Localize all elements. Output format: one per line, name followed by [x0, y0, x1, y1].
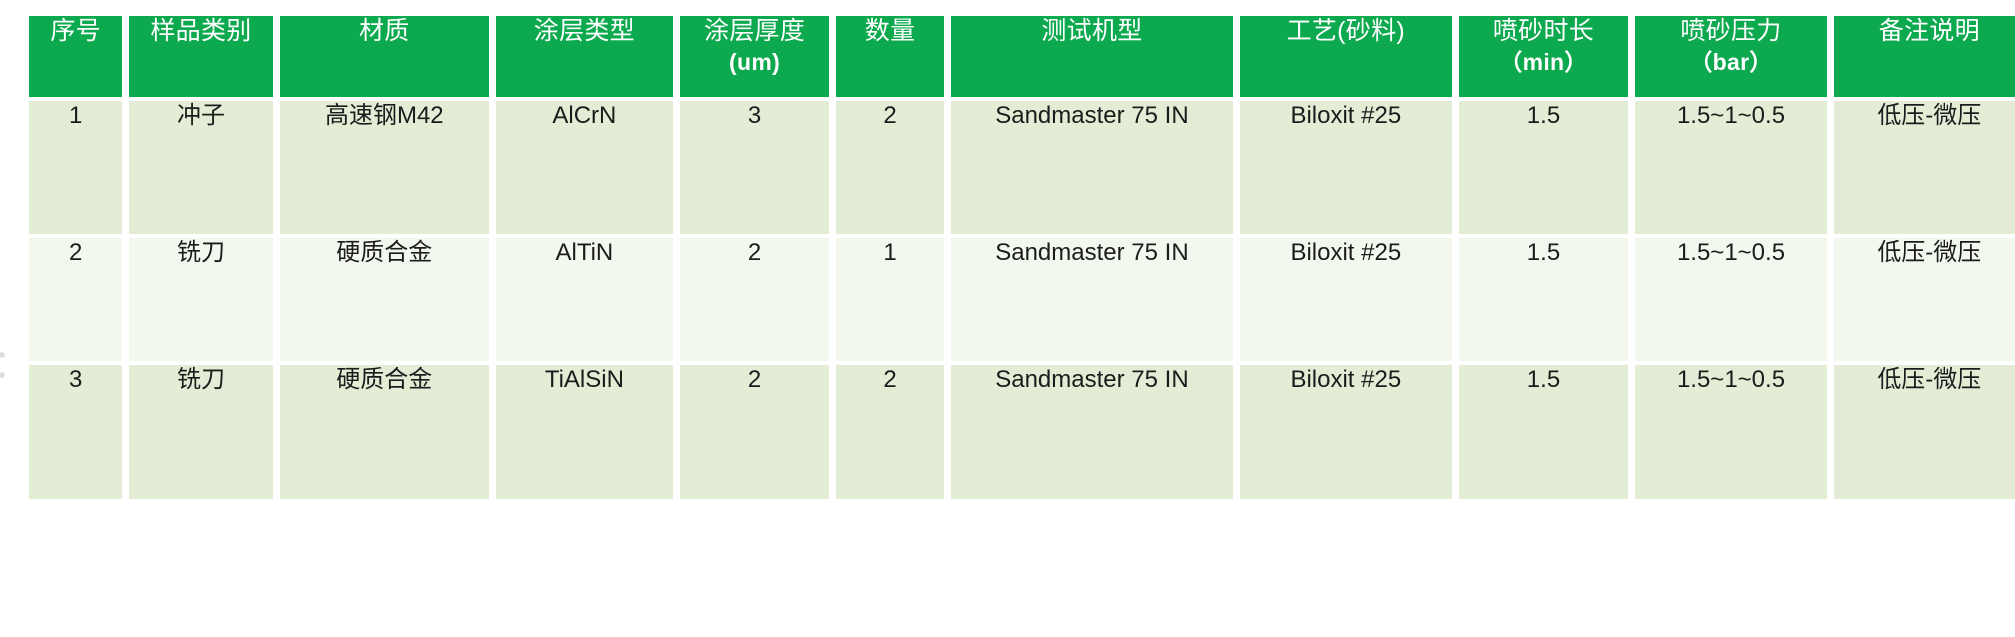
column-header-thickness[interactable]: 涂层厚度 (um) [680, 16, 829, 97]
cell-blast-time[interactable]: 1.5 [1459, 365, 1629, 499]
sample-parameters-table: 序号 样品类别 材质 涂层类型 涂层厚度 (um) [22, 12, 2015, 503]
table-body: 1 冲子 高速钢M42 AlCrN 3 2 Sandmaster 75 IN B… [29, 101, 2015, 499]
cell-coat[interactable]: TiAlSiN [496, 365, 673, 499]
cell-coat[interactable]: AlTiN [496, 238, 673, 361]
cell-process[interactable]: Biloxit #25 [1240, 365, 1452, 499]
column-header-qty-label: 数量 [865, 17, 916, 45]
column-header-process-label: 工艺(砂料) [1287, 17, 1405, 45]
cell-qty[interactable]: 2 [836, 101, 944, 234]
table-row[interactable]: 2 铣刀 硬质合金 AlTiN 2 1 Sandmaster 75 IN Bil… [29, 238, 2015, 361]
column-header-process[interactable]: 工艺(砂料) [1240, 16, 1452, 97]
cell-remark[interactable]: 低压-微压 [1834, 101, 2015, 234]
column-header-machine[interactable]: 测试机型 [951, 16, 1233, 97]
table-header: 序号 样品类别 材质 涂层类型 涂层厚度 (um) [29, 16, 2015, 97]
column-header-coat-label: 涂层类型 [534, 17, 635, 45]
cell-cat[interactable]: 冲子 [129, 101, 272, 234]
cell-mat[interactable]: 硬质合金 [280, 365, 489, 499]
cell-machine[interactable]: Sandmaster 75 IN [951, 101, 1233, 234]
column-header-cat-label: 样品类别 [150, 17, 251, 45]
column-header-machine-label: 测试机型 [1041, 17, 1142, 45]
column-header-blast-time[interactable]: 喷砂时长 （min） [1459, 16, 1629, 97]
cell-remark[interactable]: 低压-微压 [1834, 238, 2015, 361]
cell-machine[interactable]: Sandmaster 75 IN [951, 365, 1233, 499]
table-row[interactable]: 1 冲子 高速钢M42 AlCrN 3 2 Sandmaster 75 IN B… [29, 101, 2015, 234]
cell-blast-time[interactable]: 1.5 [1459, 238, 1629, 361]
cell-thickness[interactable]: 3 [680, 101, 829, 234]
column-header-remark[interactable]: 备注说明 [1834, 16, 2015, 97]
column-header-thickness-label: 涂层厚度 [704, 17, 805, 45]
column-header-seq-label: 序号 [50, 17, 101, 45]
table-row[interactable]: 3 铣刀 硬质合金 TiAlSiN 2 2 Sandmaster 75 IN B… [29, 365, 2015, 499]
column-header-blast-pressure-unit: （bar） [1635, 47, 1826, 77]
cell-coat[interactable]: AlCrN [496, 101, 673, 234]
cell-process[interactable]: Biloxit #25 [1240, 101, 1452, 234]
cell-blast-pressure[interactable]: 1.5~1~0.5 [1635, 238, 1826, 361]
cell-seq[interactable]: 3 [29, 365, 122, 499]
cell-qty[interactable]: 2 [836, 365, 944, 499]
cell-remark[interactable]: 低压-微压 [1834, 365, 2015, 499]
cell-blast-time[interactable]: 1.5 [1459, 101, 1629, 234]
cell-qty[interactable]: 1 [836, 238, 944, 361]
column-header-remark-label: 备注说明 [1879, 17, 1980, 45]
column-header-blast-time-unit: （min） [1459, 47, 1629, 77]
cell-thickness[interactable]: 2 [680, 238, 829, 361]
column-header-blast-time-label: 喷砂时长 [1493, 17, 1594, 45]
cell-process[interactable]: Biloxit #25 [1240, 238, 1452, 361]
column-header-seq[interactable]: 序号 [29, 16, 122, 97]
cell-blast-pressure[interactable]: 1.5~1~0.5 [1635, 101, 1826, 234]
cell-seq[interactable]: 1 [29, 101, 122, 234]
column-header-blast-pressure-label: 喷砂压力 [1680, 17, 1781, 45]
column-header-coat[interactable]: 涂层类型 [496, 16, 673, 97]
column-header-mat[interactable]: 材质 [280, 16, 489, 97]
column-header-mat-label: 材质 [359, 17, 410, 45]
cell-seq[interactable]: 2 [29, 238, 122, 361]
cell-mat[interactable]: 硬质合金 [280, 238, 489, 361]
cell-cat[interactable]: 铣刀 [129, 238, 272, 361]
cell-machine[interactable]: Sandmaster 75 IN [951, 238, 1233, 361]
column-header-cat[interactable]: 样品类别 [129, 16, 272, 97]
column-header-thickness-unit: (um) [680, 47, 829, 77]
cell-thickness[interactable]: 2 [680, 365, 829, 499]
spreadsheet-canvas: 序号 样品类别 材质 涂层类型 涂层厚度 (um) [0, 0, 2015, 637]
scan-artifact [0, 348, 7, 392]
cell-blast-pressure[interactable]: 1.5~1~0.5 [1635, 365, 1826, 499]
column-header-blast-pressure[interactable]: 喷砂压力 （bar） [1635, 16, 1826, 97]
cell-mat[interactable]: 高速钢M42 [280, 101, 489, 234]
column-header-qty[interactable]: 数量 [836, 16, 944, 97]
header-row: 序号 样品类别 材质 涂层类型 涂层厚度 (um) [29, 16, 2015, 97]
cell-cat[interactable]: 铣刀 [129, 365, 272, 499]
